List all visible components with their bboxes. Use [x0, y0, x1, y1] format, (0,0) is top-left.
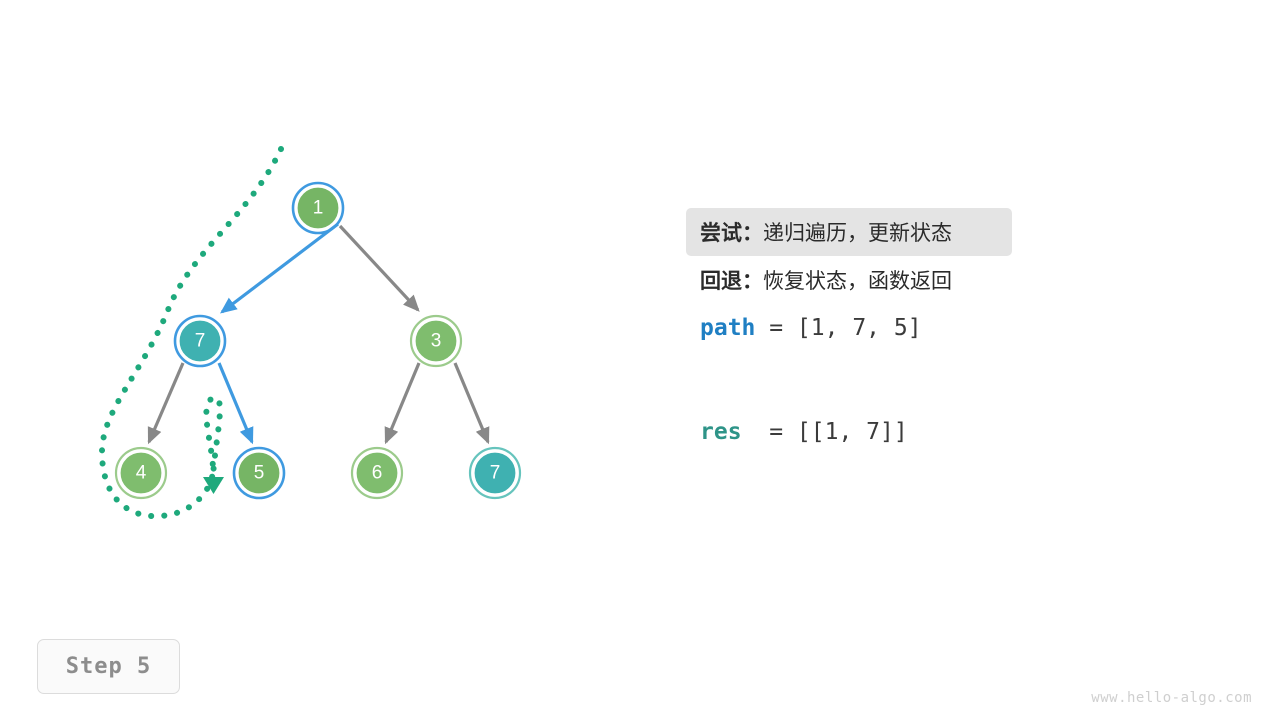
edge-3-to-6 [386, 363, 419, 442]
tree-nodes: 1 7 3 4 5 [116, 183, 520, 498]
info-line-try: 尝试： 递归遍历，更新状态 [686, 208, 1012, 256]
info-line-backtrack: 回退： 恢复状态，函数返回 [686, 256, 1106, 304]
path-variable-line: path = [1, 7, 5] [686, 304, 1106, 352]
info-line-backtrack-label: 回退： [700, 265, 763, 295]
tree-node-1[interactable]: 1 [293, 183, 343, 233]
path-variable-name: path [700, 315, 755, 341]
info-line-try-text: 递归遍历，更新状态 [763, 217, 952, 247]
step-badge-label: Step 5 [66, 654, 151, 679]
info-line-backtrack-text: 恢复状态，函数返回 [763, 265, 952, 295]
code-spacer [686, 352, 1106, 408]
tree-node-5[interactable]: 5 [234, 448, 284, 498]
site-watermark: www.hello-algo.com [1091, 690, 1252, 706]
info-line-try-label: 尝试： [700, 217, 763, 247]
edge-1-to-3 [340, 226, 418, 310]
trace-arrowhead [203, 477, 224, 494]
edge-3-to-7r [455, 363, 488, 442]
backtracking-info-panel: 尝试： 递归遍历，更新状态 回退： 恢复状态，函数返回 path = [1, 7… [686, 208, 1106, 456]
illustration-canvas: 1 7 3 4 5 [0, 0, 1280, 720]
node-value-label: 7 [195, 331, 206, 352]
res-variable-value: = [[1, 7]] [742, 419, 908, 445]
res-variable-name: res [700, 419, 742, 445]
tree-node-6[interactable]: 6 [352, 448, 402, 498]
tree-node-7-left[interactable]: 7 [175, 316, 225, 366]
edge-7-to-4 [149, 363, 183, 442]
edge-1-to-7 [222, 224, 338, 312]
edge-7-to-5 [219, 363, 252, 442]
res-variable-line: res = [[1, 7]] [686, 408, 1106, 456]
node-value-label: 5 [254, 463, 265, 484]
tree-node-3[interactable]: 3 [411, 316, 461, 366]
node-value-label: 4 [136, 463, 147, 484]
node-value-label: 3 [431, 331, 442, 352]
path-variable-value: = [1, 7, 5] [755, 315, 921, 341]
step-badge: Step 5 [37, 639, 180, 694]
node-value-label: 1 [313, 198, 324, 219]
tree-node-7-right[interactable]: 7 [470, 448, 520, 498]
node-value-label: 7 [490, 463, 501, 484]
tree-node-4[interactable]: 4 [116, 448, 166, 498]
watermark-text: www.hello-algo.com [1091, 690, 1252, 706]
node-value-label: 6 [372, 463, 383, 484]
